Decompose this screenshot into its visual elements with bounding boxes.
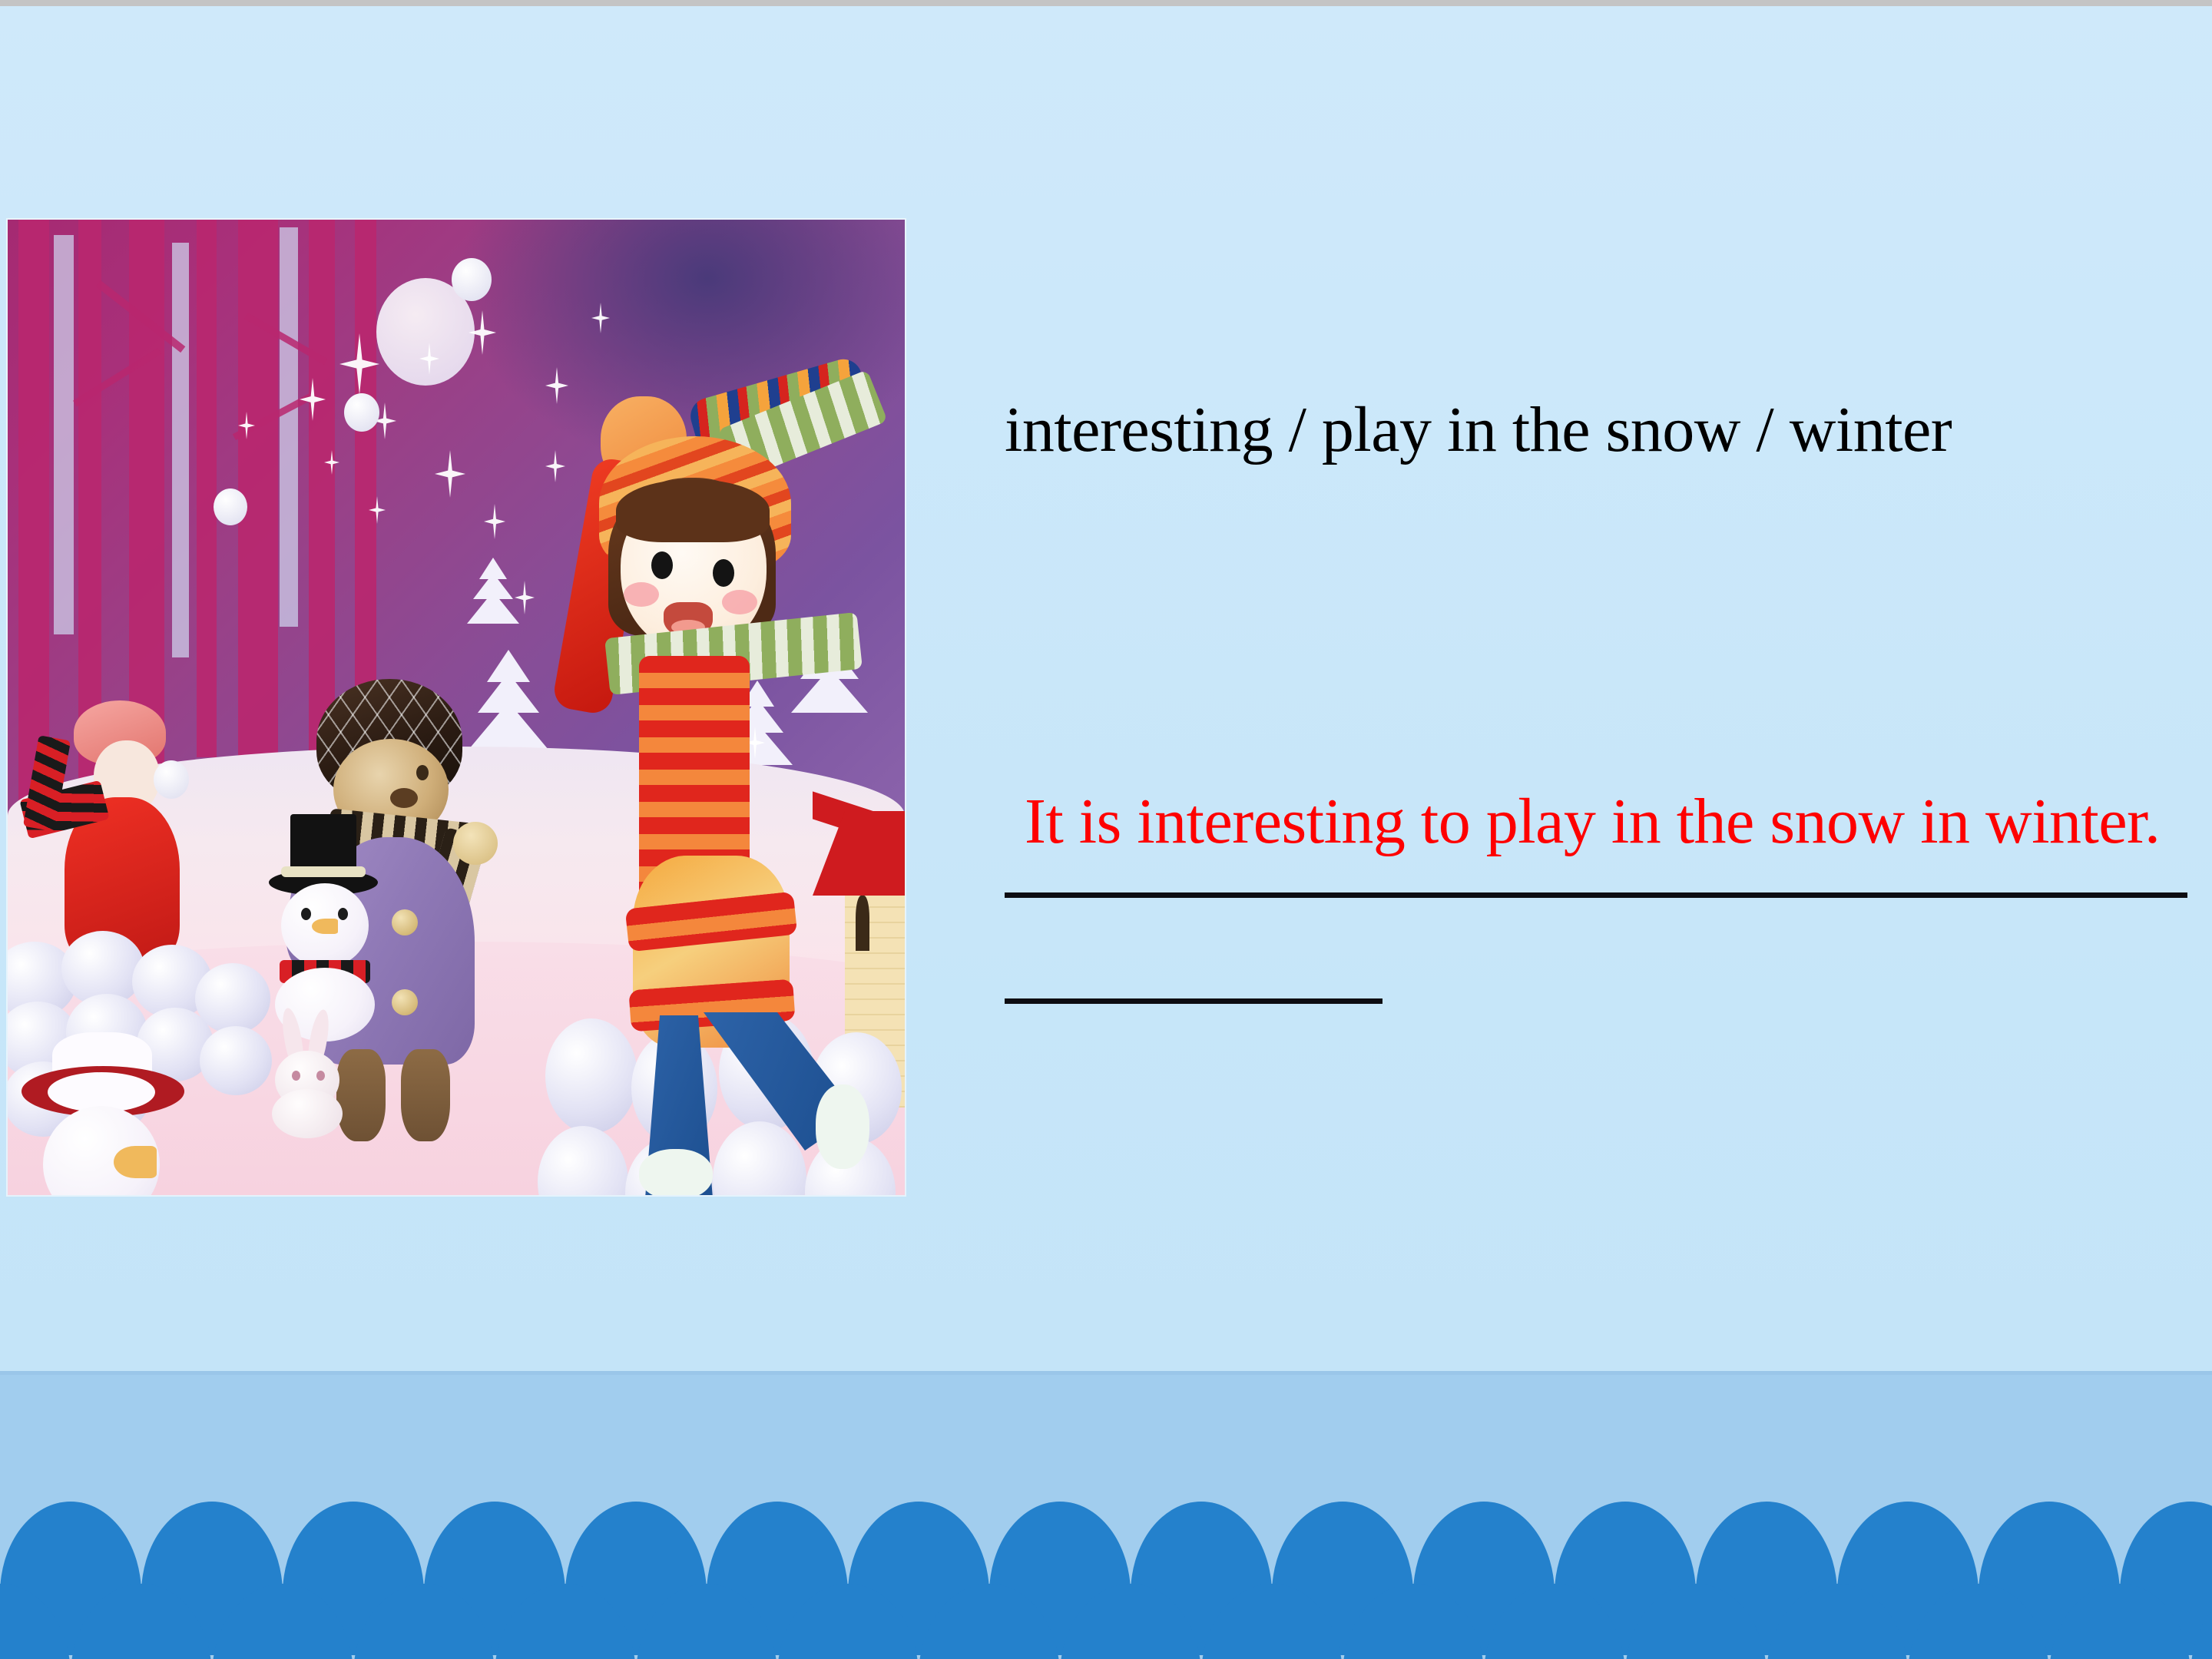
bare-tree-trunk — [197, 220, 217, 757]
snowman-with-red-hat — [14, 1032, 244, 1195]
girl-blush — [624, 582, 659, 607]
arch-shape — [1625, 1584, 1767, 1659]
arch-shape — [2190, 1584, 2212, 1659]
girl-eye — [713, 559, 734, 587]
snowman-eye — [301, 908, 311, 920]
prompt-phrase: interesting / play in the snow / winter — [1005, 380, 2126, 480]
slide-canvas: interesting / play in the snow / winter … — [0, 0, 2212, 1659]
arch-shape — [71, 1584, 212, 1659]
arch-shape — [1343, 1584, 1484, 1659]
bunny-eye — [292, 1071, 300, 1081]
girl-eye — [651, 551, 673, 579]
arch-shape — [1908, 1584, 2049, 1659]
bare-tree-highlight — [54, 235, 74, 634]
winter-illustration — [8, 220, 905, 1195]
arch-shape — [1484, 1584, 1625, 1659]
answer-underline-line-1 — [1005, 892, 2187, 898]
bunny-body — [272, 1089, 343, 1138]
girl-boot — [639, 1149, 713, 1195]
bottom-decorative-band — [0, 1371, 2212, 1659]
snowman-with-top-hat — [261, 810, 399, 1009]
snowman-eye — [338, 908, 348, 920]
snowball — [154, 760, 189, 799]
top-edge-strip — [0, 0, 2212, 6]
arch-shape — [212, 1584, 353, 1659]
girl-fringe — [616, 479, 770, 542]
snowball — [452, 258, 492, 301]
arch-shape — [919, 1584, 1060, 1659]
arch-shape — [636, 1584, 777, 1659]
girl-blush — [722, 590, 757, 614]
bunny-eye — [316, 1071, 325, 1081]
arch-shape — [777, 1584, 919, 1659]
answer-area: It is interesting to play in the snow in… — [1005, 770, 2203, 874]
bear-eye — [416, 765, 429, 780]
snowball — [344, 393, 379, 432]
arch-shape — [0, 1584, 71, 1659]
arch-shape — [1201, 1584, 1343, 1659]
bare-tree-highlight — [172, 243, 189, 657]
bare-tree-highlight — [280, 227, 298, 627]
bunny — [257, 1008, 356, 1138]
bear-leg — [401, 1049, 450, 1141]
answer-sentence: It is interesting to play in the snow in… — [1005, 770, 2203, 874]
snowman-carrot-nose — [312, 919, 338, 934]
snowball — [214, 488, 247, 525]
arch-shape — [495, 1584, 636, 1659]
arch-shape — [1767, 1584, 1908, 1659]
arch-shape — [353, 1584, 495, 1659]
band-top-hairline — [0, 1371, 2212, 1375]
girl-boot — [816, 1084, 869, 1169]
top-hat-band — [281, 866, 366, 877]
snowman-carrot-nose — [114, 1146, 157, 1178]
answer-underline-line-2 — [1005, 998, 1382, 1004]
arch-shape — [2049, 1584, 2190, 1659]
girl-throwing-snowball — [469, 370, 868, 1195]
bear-muzzle — [390, 788, 418, 808]
arch-row-lower — [0, 1584, 2210, 1659]
arch-shape — [1060, 1584, 1201, 1659]
